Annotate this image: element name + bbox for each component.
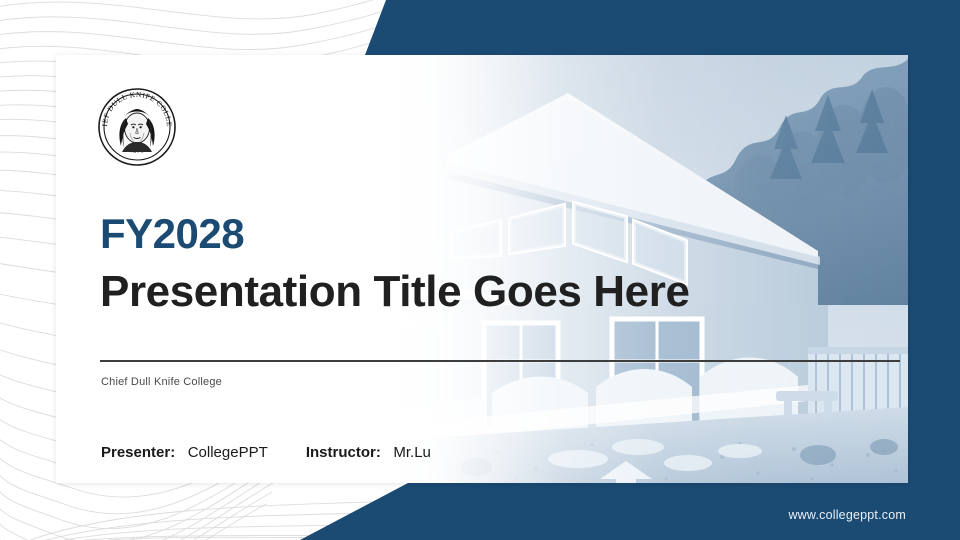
top-right-blue-wedge <box>365 0 960 55</box>
headline-group: FY2028 Presentation Title Goes Here <box>100 213 690 315</box>
organization-name: Chief Dull Knife College <box>101 376 222 388</box>
slide-content-card: CHIEF DULL KNIFE COLLEGE 1975 <box>56 55 908 483</box>
instructor-label: Instructor: <box>306 444 381 461</box>
fiscal-year-label: FY2028 <box>100 213 690 255</box>
right-blue-column <box>908 0 960 540</box>
page-title: Presentation Title Goes Here <box>100 269 690 315</box>
presenter-name: CollegePPT <box>188 444 268 461</box>
credits-line: Presenter: CollegePPT Instructor: Mr.Lu <box>101 444 431 461</box>
presenter-label: Presenter: <box>101 444 175 461</box>
title-divider <box>100 360 900 362</box>
footer-website-url[interactable]: www.collegeppt.com <box>788 508 906 522</box>
presentation-slide: CHIEF DULL KNIFE COLLEGE 1975 <box>0 0 960 540</box>
instructor-name: Mr.Lu <box>393 444 431 461</box>
chief-dull-knife-college-seal-logo: CHIEF DULL KNIFE COLLEGE 1975 <box>88 86 186 168</box>
